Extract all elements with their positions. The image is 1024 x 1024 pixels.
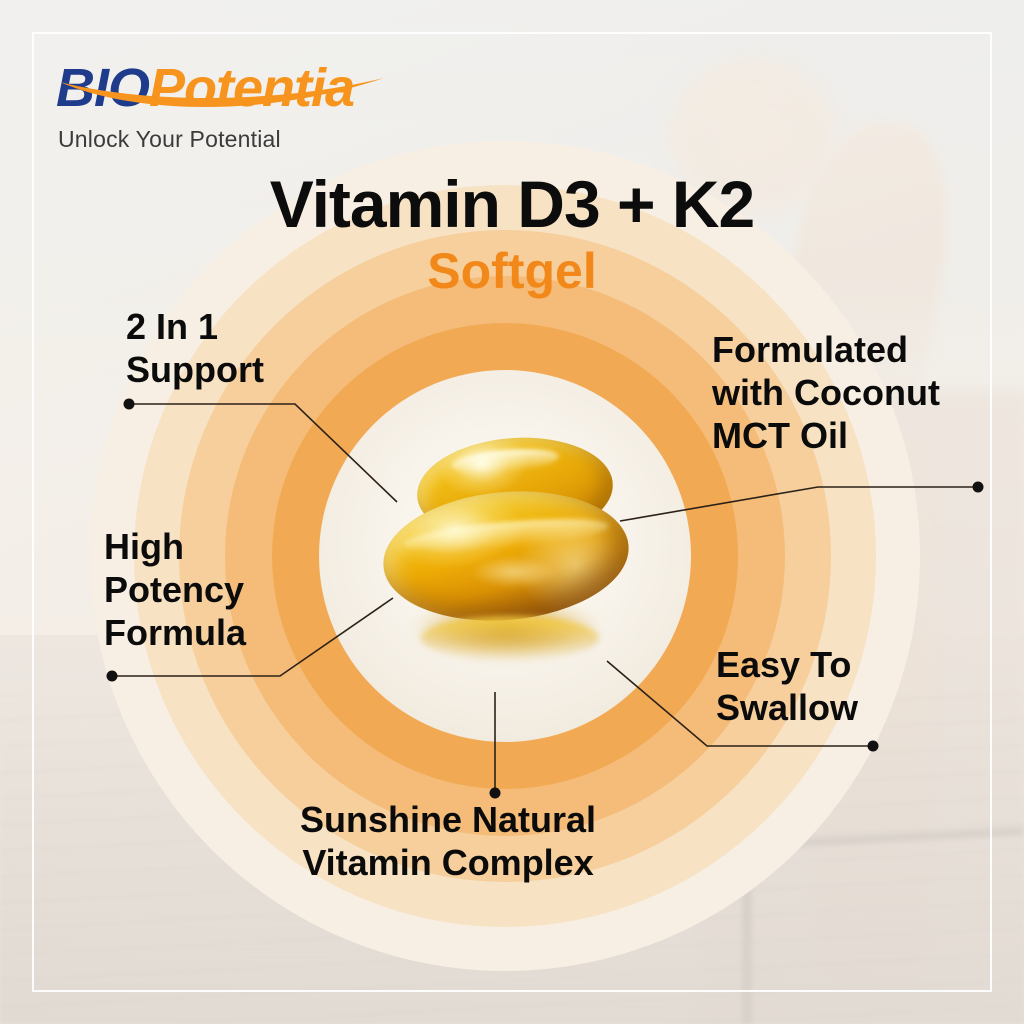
page-title: Vitamin D3 + K2 [0,168,1024,240]
callout-two-in-one-support: 2 In 1 Support [126,305,264,391]
capsule-reflection [421,616,599,660]
callout-line: Easy To [716,643,858,686]
callout-high-potency-formula: High Potency Formula [104,525,246,654]
callout-sunshine-vitamin-complex: Sunshine Natural Vitamin Complex [300,798,596,884]
logo-wordmark: BIOPotentia [56,56,496,120]
callout-line: Formula [104,611,246,654]
page-subtitle: Softgel [0,243,1024,299]
callout-line: with Coconut [712,371,940,414]
callout-line: Vitamin Complex [300,841,596,884]
callout-line: Potency [104,568,246,611]
callout-line: Sunshine Natural [300,798,596,841]
callout-line: Swallow [716,686,858,729]
callout-line: Formulated [712,328,940,371]
callout-line: Support [126,348,264,391]
callout-coconut-mct-oil: Formulated with Coconut MCT Oil [712,328,940,457]
callout-line: MCT Oil [712,414,940,457]
brand-tagline: Unlock Your Potential [58,126,281,153]
callout-line: 2 In 1 [126,305,264,348]
callout-line: High [104,525,246,568]
logo-bio-text: BIO [56,58,149,118]
softgel-capsules-image [355,430,655,690]
callout-easy-to-swallow: Easy To Swallow [716,643,858,729]
capsule-front-glow [453,550,575,594]
product-infographic: BIOPotentia Unlock Your Potential Vitami… [0,0,1024,1024]
logo-potentia-text: Potentia [149,58,354,118]
